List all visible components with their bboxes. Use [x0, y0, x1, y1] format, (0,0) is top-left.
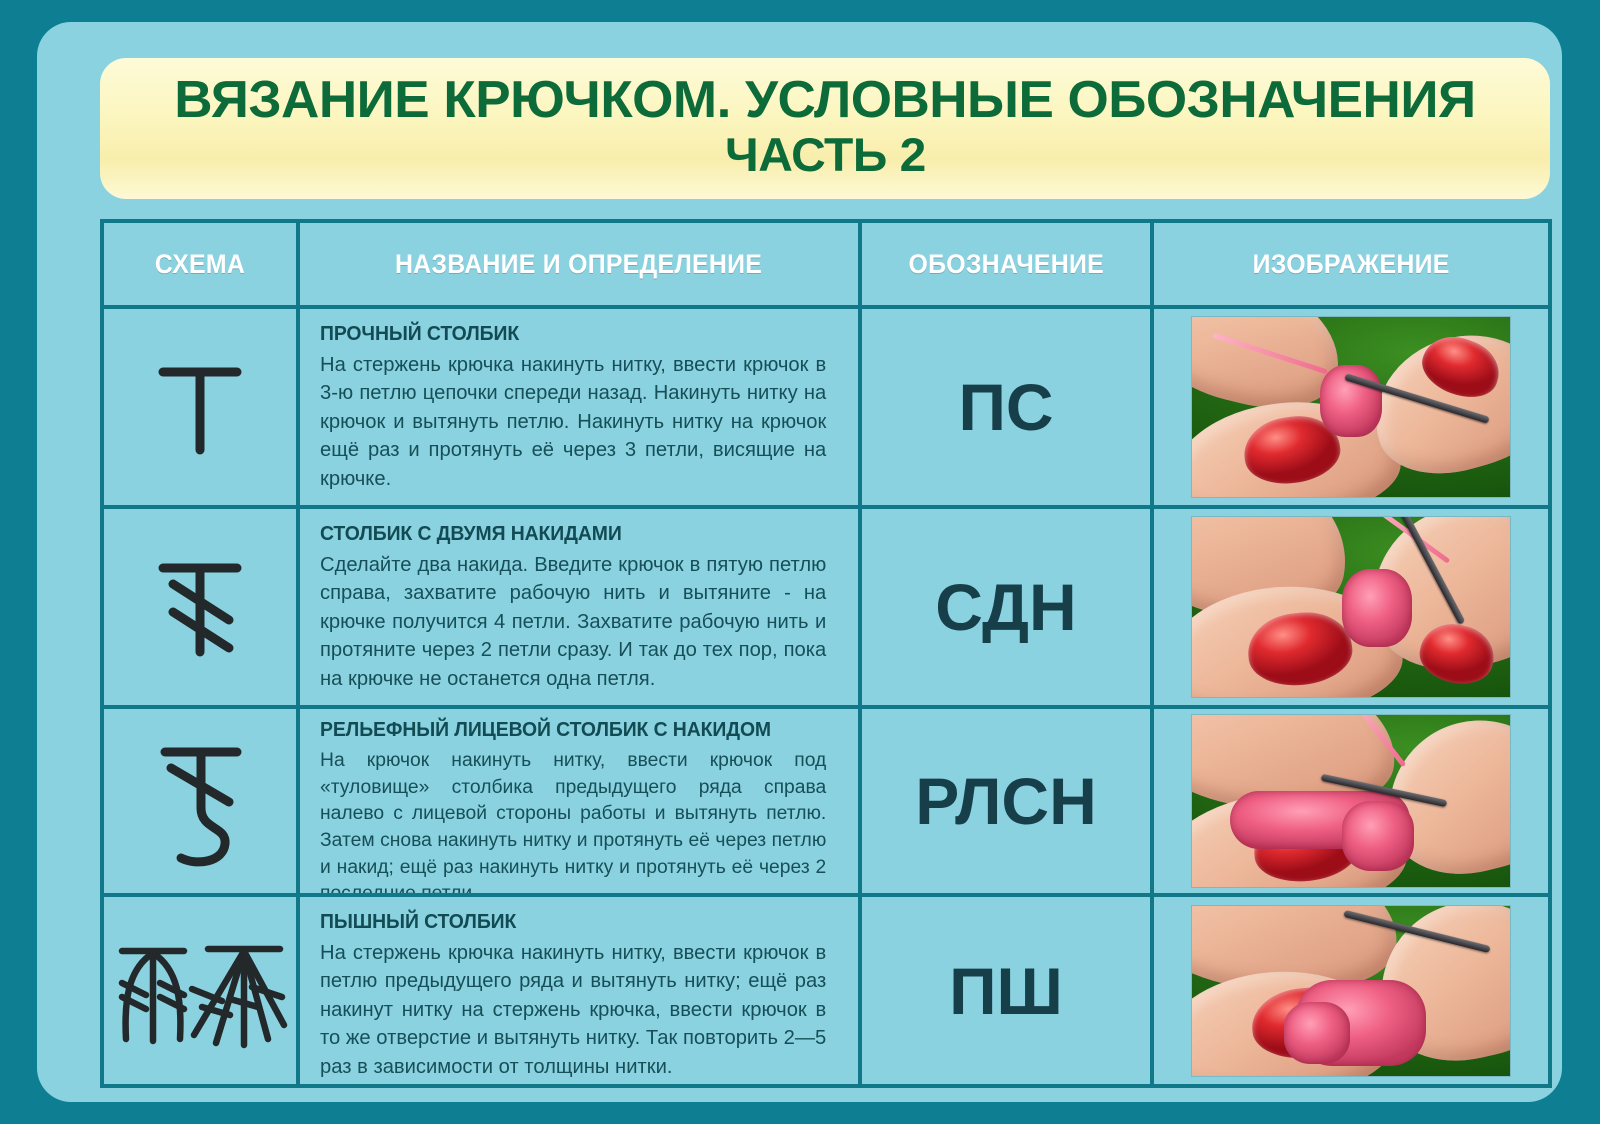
abbreviation-cell: РЛСН: [862, 709, 1154, 893]
image-cell: [1154, 709, 1548, 893]
table-row: СТОЛБИК С ДВУМЯ НАКИДАМИ Сделайте два на…: [104, 509, 1548, 709]
photo-crochet-hands-2: [1192, 517, 1510, 697]
name-definition-cell: ПЫШНЫЙ СТОЛБИК На стержень крючка накину…: [300, 897, 862, 1084]
stitch-definition: На стержень крючка накинуть нитку, ввест…: [320, 351, 826, 493]
t-bar-symbol: [125, 332, 275, 482]
stitch-abbreviation: ПС: [958, 374, 1053, 440]
yarn-loop: [1284, 1002, 1350, 1064]
puff-stitch-cluster-symbol: [112, 915, 288, 1067]
name-definition-cell: РЕЛЬЕФНЫЙ ЛИЦЕВОЙ СТОЛБИК С НАКИДОМ На к…: [300, 709, 862, 893]
column-header-image: ИЗОБРАЖЕНИЕ: [1252, 249, 1449, 280]
stitch-term: СТОЛБИК С ДВУМЯ НАКИДАМИ: [320, 523, 819, 546]
symbols-table: СХЕМА НАЗВАНИЕ И ОПРЕДЕЛЕНИЕ ОБОЗНАЧЕНИЕ…: [100, 219, 1552, 1088]
photo-crochet-hands-4: [1192, 906, 1510, 1076]
schema-cell: [104, 709, 300, 893]
stitch-term: ПРОЧНЫЙ СТОЛБИК: [320, 323, 819, 346]
image-cell: [1154, 309, 1548, 505]
yarn-loop: [1342, 569, 1412, 647]
stitch-definition: На стержень крючка накинуть нитку, ввест…: [320, 939, 826, 1081]
column-header-schema: СХЕМА: [155, 249, 245, 280]
abbreviation-cell: ПШ: [862, 897, 1154, 1084]
photo-crochet-hands-3: [1192, 715, 1510, 887]
page-title-line-1: ВЯЗАНИЕ КРЮЧКОМ. УСЛОВНЫЕ ОБОЗНАЧЕНИЯ: [174, 74, 1475, 127]
table-header-row: СХЕМА НАЗВАНИЕ И ОПРЕДЕЛЕНИЕ ОБОЗНАЧЕНИЕ…: [104, 223, 1548, 309]
column-header-abbreviation: ОБОЗНАЧЕНИЕ: [908, 249, 1103, 280]
t-bar-double-slash-symbol: [125, 532, 275, 682]
title-banner: ВЯЗАНИЕ КРЮЧКОМ. УСЛОВНЫЕ ОБОЗНАЧЕНИЯ ЧА…: [100, 58, 1550, 199]
stitch-definition: На крючок накинуть нитку, ввести крючок …: [320, 747, 826, 893]
table-row: ПРОЧНЫЙ СТОЛБИК На стержень крючка накин…: [104, 309, 1548, 509]
stitch-term: ПЫШНЫЙ СТОЛБИК: [320, 911, 819, 934]
header-cell-schema: СХЕМА: [104, 223, 300, 305]
abbreviation-cell: ПС: [862, 309, 1154, 505]
schema-cell: [104, 897, 300, 1084]
stitch-definition: Сделайте два накида. Введите крючок в пя…: [320, 551, 826, 693]
image-cell: [1154, 509, 1548, 705]
stitch-abbreviation: РЛСН: [915, 768, 1097, 834]
stitch-abbreviation: СДН: [935, 574, 1076, 640]
name-definition-cell: СТОЛБИК С ДВУМЯ НАКИДАМИ Сделайте два на…: [300, 509, 862, 705]
table-row: РЕЛЬЕФНЫЙ ЛИЦЕВОЙ СТОЛБИК С НАКИДОМ На к…: [104, 709, 1548, 897]
page-title-line-2: ЧАСТЬ 2: [725, 131, 926, 179]
header-cell-name: НАЗВАНИЕ И ОПРЕДЕЛЕНИЕ: [300, 223, 862, 305]
header-cell-abbreviation: ОБОЗНАЧЕНИЕ: [862, 223, 1154, 305]
abbreviation-cell: СДН: [862, 509, 1154, 705]
image-cell: [1154, 897, 1548, 1084]
column-header-name-definition: НАЗВАНИЕ И ОПРЕДЕЛЕНИЕ: [395, 249, 762, 280]
stitch-abbreviation: ПШ: [949, 958, 1063, 1024]
photo-crochet-hands-1: [1192, 317, 1510, 497]
name-definition-cell: ПРОЧНЫЙ СТОЛБИК На стержень крючка накин…: [300, 309, 862, 505]
poster-root: ВЯЗАНИЕ КРЮЧКОМ. УСЛОВНЫЕ ОБОЗНАЧЕНИЯ ЧА…: [0, 0, 1600, 1124]
schema-cell: [104, 309, 300, 505]
schema-cell: [104, 509, 300, 705]
inner-panel: ВЯЗАНИЕ КРЮЧКОМ. УСЛОВНЫЕ ОБОЗНАЧЕНИЯ ЧА…: [37, 22, 1562, 1102]
stitch-term: РЕЛЬЕФНЫЙ ЛИЦЕВОЙ СТОЛБИК С НАКИДОМ: [320, 719, 819, 742]
yarn-loop: [1342, 801, 1414, 871]
table-row: ПЫШНЫЙ СТОЛБИК На стержень крючка накину…: [104, 897, 1548, 1084]
t-bar-slash-hook-symbol: [125, 726, 275, 876]
header-cell-image: ИЗОБРАЖЕНИЕ: [1154, 223, 1548, 305]
